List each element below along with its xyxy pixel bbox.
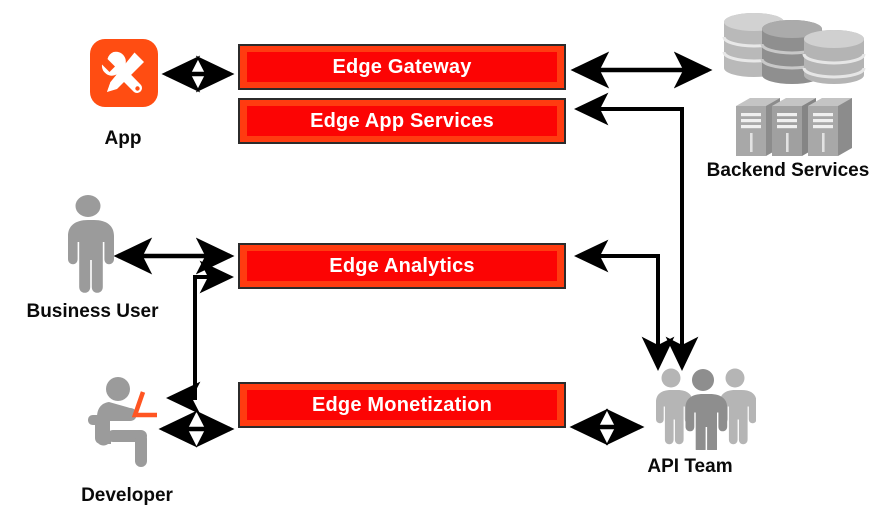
box-edge-analytics-inner: Edge Analytics [247,251,557,281]
box-edge-monetization[interactable]: Edge Monetization [238,382,566,428]
box-edge-gateway[interactable]: Edge Gateway [238,44,566,90]
developer-label: Developer [62,485,192,507]
person-icon [48,193,128,293]
architecture-diagram: Edge Gateway Edge App Services Edge Anal… [0,0,885,517]
app-tools-icon [89,38,159,108]
connector-app-services-to-api-team [578,109,682,367]
connector-analytics-to-api-team [578,256,658,367]
box-edge-monetization-label: Edge Monetization [312,394,492,417]
business-user-label: Business User [10,301,175,323]
box-edge-analytics[interactable]: Edge Analytics [238,243,566,289]
app-label: App [83,128,163,150]
box-edge-app-services[interactable]: Edge App Services [238,98,566,144]
box-edge-monetization-inner: Edge Monetization [247,390,557,420]
database-server-icon [716,6,868,156]
box-edge-app-services-inner: Edge App Services [247,106,557,136]
box-edge-gateway-inner: Edge Gateway [247,52,557,82]
api-team-label: API Team [620,456,760,478]
box-edge-analytics-label: Edge Analytics [329,255,474,278]
backend-services-label: Backend Services [694,160,882,182]
connector-developer-to-analytics [170,277,230,398]
developer-laptop-icon [85,375,175,470]
box-edge-app-services-label: Edge App Services [310,110,494,133]
box-edge-gateway-label: Edge Gateway [332,56,471,79]
people-group-icon [650,366,756,450]
